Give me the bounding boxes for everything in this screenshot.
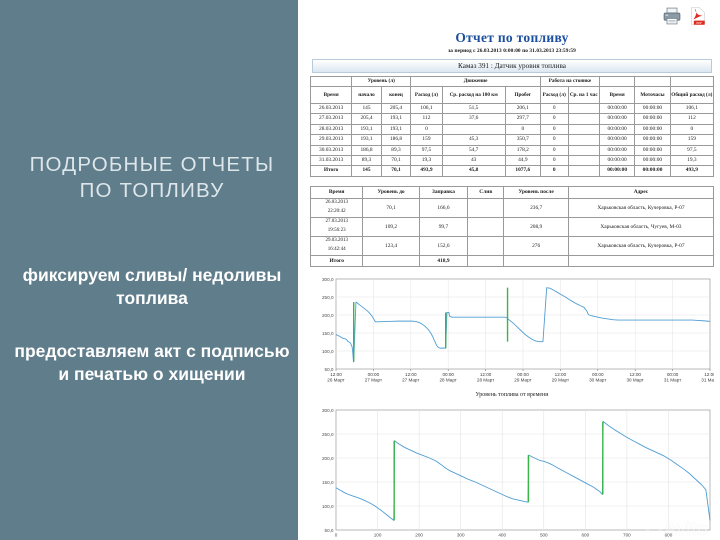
table-cell: 208,9	[504, 217, 568, 236]
table-cell: 0	[411, 124, 442, 134]
x-tick-label: 600	[581, 532, 589, 537]
table-cell: 00:00:00	[635, 166, 670, 176]
table-cell: 89,3	[352, 156, 381, 166]
group-cell-level: Уровень (л)	[352, 77, 411, 87]
x-tick-label-time: 12:00	[330, 372, 342, 377]
table-cell: 00:00:00	[635, 104, 670, 114]
y-tick-label: 100,0	[322, 504, 334, 509]
table-cell: 28.03.2013	[311, 124, 352, 134]
table-cell: 236,7	[504, 198, 568, 217]
y-tick-label: 50,0	[325, 528, 334, 533]
table-cell: 26.03.2013	[311, 104, 352, 114]
y-tick-label: 300,0	[322, 408, 334, 413]
x-tick-label-date: 26 Март	[327, 378, 345, 383]
promo-bullet-2: предоставляем акт с подписью и печатью о…	[14, 340, 290, 386]
table-cell: 44,9	[505, 156, 540, 166]
table-cell: 112	[670, 114, 713, 124]
table-cell: 106,1	[670, 104, 713, 114]
table-cell: 186,8	[381, 135, 410, 145]
table-cell: 00:00:00	[635, 124, 670, 134]
table-cell: 493,9	[670, 166, 713, 176]
table-cell	[568, 135, 599, 145]
table-cell	[468, 217, 504, 236]
group-cell	[311, 77, 352, 87]
table-cell: 97,5	[670, 145, 713, 155]
table-cell	[568, 145, 599, 155]
x-tick-label-date: 28 Март	[440, 378, 458, 383]
table-cell: 70,1	[381, 166, 410, 176]
table-cell: 106,1	[411, 104, 442, 114]
table-head: Уровень (л) Движение Работа на стоянке В…	[311, 77, 714, 104]
table-cell: 159	[411, 135, 442, 145]
table-cell: 350,7	[505, 135, 540, 145]
table-cell: 00:00:00	[635, 114, 670, 124]
column-header-row: Время начало конец Расход (л) Ср. расход…	[311, 87, 714, 104]
col-idle-time: Время	[599, 87, 634, 104]
chart-fuel-vs-distance: 50,0100,0150,0200,0250,0300,001002003004…	[310, 406, 714, 540]
table-cell: 186,8	[352, 145, 381, 155]
table-cell: 159	[670, 135, 713, 145]
table-cell: 00:00:00	[599, 114, 634, 124]
y-tick-label: 200,0	[322, 313, 334, 318]
table-cell: 276	[504, 236, 568, 255]
col-engine-hours: Моточасы	[635, 87, 670, 104]
table-cell: 00:00:00	[599, 135, 634, 145]
table-cell: 00:00:00	[635, 145, 670, 155]
col-refuel: Заправка	[419, 186, 467, 198]
chart-2-svg: 50,0100,0150,0200,0250,0300,001002003004…	[310, 406, 714, 540]
table-cell: 00:00:00	[599, 166, 634, 176]
y-tick-label: 250,0	[322, 432, 334, 437]
group-cell	[670, 77, 713, 87]
table-cell: 43	[442, 156, 505, 166]
col-time: Время	[311, 186, 363, 198]
table-cell: 206,1	[505, 104, 540, 114]
table-cell: 178,2	[505, 145, 540, 155]
table-cell: 0	[540, 104, 568, 114]
table-cell	[568, 124, 599, 134]
table-cell: 51,5	[442, 104, 505, 114]
device-bar: Камаз 391 : Датчик уровня топлива	[312, 59, 712, 73]
table-cell: 145	[352, 104, 381, 114]
table-cell	[468, 236, 504, 255]
y-tick-label: 150,0	[322, 480, 334, 485]
table-cell: 00:00:00	[599, 156, 634, 166]
table-cell: 418,9	[419, 255, 467, 266]
table-cell: 152,6	[419, 236, 467, 255]
table-cell: 54,7	[442, 145, 505, 155]
table-cell: 123,4	[363, 236, 419, 255]
col-consumption: Расход (л)	[411, 87, 442, 104]
col-avg-per-hour: Ср. на 1 час	[568, 87, 599, 104]
table-row: Итого14570,1493,945,81077,6000:00:0000:0…	[311, 166, 714, 176]
col-start: начало	[352, 87, 381, 104]
table-cell	[442, 124, 505, 134]
table-row: 26.03.201322:20:4270,1166,6236,7Харьковс…	[311, 198, 714, 217]
table-cell	[363, 255, 419, 266]
col-idle-consumption: Расход (л)	[540, 87, 568, 104]
table-cell: 109,2	[363, 217, 419, 236]
table-cell	[468, 255, 504, 266]
x-tick-label-time: 12:00	[629, 372, 641, 377]
table-body: 26.03.2013145205,4106,151,5206,1000:00:0…	[311, 104, 714, 177]
col-total-consumption: Общий расход (л)	[670, 87, 713, 104]
table-row: 29.03.201316:42:44123,4152,6276Харьковск…	[311, 236, 714, 255]
x-tick-label-date: 28 Март	[477, 378, 495, 383]
y-tick-label: 100,0	[322, 349, 334, 354]
table-cell: 27.03.2013	[311, 114, 352, 124]
col-level-before: Уровень до	[363, 186, 419, 198]
table-cell: 493,9	[411, 166, 442, 176]
table-cell: 97,5	[411, 145, 442, 155]
chart-fuel-vs-time: 50,0100,0150,0200,0250,0300,012:0026 Мар…	[310, 275, 714, 398]
table-cell: 0	[540, 114, 568, 124]
table-cell: 205,4	[352, 114, 381, 124]
table-cell	[568, 114, 599, 124]
svg-text:PDF: PDF	[696, 21, 702, 25]
table-cell: 31.03.2013	[311, 156, 352, 166]
table-cell: 297,7	[505, 114, 540, 124]
x-tick-label-time: 12:00	[704, 372, 714, 377]
table-cell: 0	[505, 124, 540, 134]
table-cell: 0	[540, 124, 568, 134]
table-cell: Харьковская область, Кучеровка, Р-07	[568, 236, 713, 255]
table-cell: 112	[411, 114, 442, 124]
refuel-header-row: Время Уровень до Заправка Слив Уровень п…	[311, 186, 714, 198]
x-tick-label-date: 29 Март	[552, 378, 570, 383]
fuel-summary-table: Уровень (л) Движение Работа на стоянке В…	[310, 76, 714, 177]
table-cell: 19,3	[670, 156, 713, 166]
x-tick-label: 700	[623, 532, 631, 537]
x-tick-label-date: 30 Март	[589, 378, 607, 383]
x-tick-label: 0	[335, 532, 338, 537]
table-cell: 0	[540, 166, 568, 176]
x-tick-label-time: 00:00	[517, 372, 529, 377]
refuel-table-head: Время Уровень до Заправка Слив Уровень п…	[311, 186, 714, 198]
table-cell: 0	[670, 124, 713, 134]
table-cell: 30.03.2013	[311, 145, 352, 155]
x-tick-label: 200	[415, 532, 423, 537]
table-row: 31.03.201389,370,119,34344,9000:00:0000:…	[311, 156, 714, 166]
table-cell: 70,1	[363, 198, 419, 217]
table-row: 29.03.2013193,1186,815945,3350,7000:00:0…	[311, 135, 714, 145]
x-tick-label-date: 27 Март	[365, 378, 383, 383]
col-level-after: Уровень после	[504, 186, 568, 198]
x-tick-label-date: 27 Март	[402, 378, 420, 383]
table-cell: 0	[540, 156, 568, 166]
table-cell: 19,3	[411, 156, 442, 166]
table-cell: 166,6	[419, 198, 467, 217]
table-cell	[568, 104, 599, 114]
table-cell: 00:00:00	[635, 156, 670, 166]
refuel-table-body: 26.03.201322:20:4270,1166,6236,7Харьковс…	[311, 198, 714, 266]
promo-panel: ПОДРОБНЫЕ ОТЧЕТЫ ПО ТОПЛИВУ фиксируем сл…	[0, 0, 304, 540]
x-tick-label-date: 31 Март	[664, 378, 682, 383]
col-avg-per-100km: Ср. расход на 100 км	[442, 87, 505, 104]
table-cell: 1077,6	[505, 166, 540, 176]
x-tick-label: 500	[540, 532, 548, 537]
y-tick-label: 300,0	[322, 277, 334, 282]
group-cell-idle: Работа на стоянке	[540, 77, 599, 87]
table-cell: 00:00:00	[635, 135, 670, 145]
table-cell: 145	[352, 166, 381, 176]
group-cell	[635, 77, 670, 87]
report-toolbar: PDF	[310, 4, 714, 28]
table-cell: 29.03.201316:42:44	[311, 236, 363, 255]
table-cell: 26.03.201322:20:42	[311, 198, 363, 217]
table-cell: 193,1	[381, 124, 410, 134]
group-header-row: Уровень (л) Движение Работа на стоянке	[311, 77, 714, 87]
table-cell: 00:00:00	[599, 145, 634, 155]
table-cell	[568, 156, 599, 166]
y-tick-label: 250,0	[322, 295, 334, 300]
table-cell: 45,3	[442, 135, 505, 145]
col-mileage: Пробег	[505, 87, 540, 104]
table-cell: 0	[540, 135, 568, 145]
x-tick-label: 100	[374, 532, 382, 537]
x-tick-label-time: 00:00	[368, 372, 380, 377]
group-cell	[599, 77, 634, 87]
table-cell: 27.03.201319:56:23	[311, 217, 363, 236]
printer-icon[interactable]	[662, 6, 682, 26]
table-cell	[568, 166, 599, 176]
report-title: Отчет по топливу	[310, 30, 714, 46]
report-panel: PDF Отчет по топливу за период с 26.03.2…	[304, 0, 720, 540]
col-end: конец	[381, 87, 410, 104]
pdf-icon[interactable]: PDF	[688, 6, 708, 26]
group-cell-movement: Движение	[411, 77, 541, 87]
table-row: 28.03.2013193,1193,100000:00:0000:00:000	[311, 124, 714, 134]
table-cell	[468, 198, 504, 217]
promo-bullet-1: фиксируем сливы/ недоливы топлива	[14, 264, 290, 310]
col-time: Время	[311, 87, 352, 104]
table-cell: 37,6	[442, 114, 505, 124]
refuel-table: Время Уровень до Заправка Слив Уровень п…	[310, 186, 714, 267]
x-tick-label-date: 30 Март	[627, 378, 645, 383]
x-tick-label-time: 12:00	[480, 372, 492, 377]
table-row: 27.03.201319:56:23109,299,7208,9Харьковс…	[311, 217, 714, 236]
table-cell: 45,8	[442, 166, 505, 176]
table-row: 30.03.2013186,889,397,554,7178,2000:00:0…	[311, 145, 714, 155]
y-tick-label: 150,0	[322, 331, 334, 336]
x-tick-label-time: 00:00	[667, 372, 679, 377]
plot-frame	[336, 410, 710, 530]
col-drain: Слив	[468, 186, 504, 198]
x-tick-label-time: 00:00	[442, 372, 454, 377]
y-tick-label: 200,0	[322, 456, 334, 461]
x-tick-label-time: 12:00	[555, 372, 567, 377]
table-cell: Итого	[311, 255, 363, 266]
x-tick-label-date: 31 Март	[701, 378, 714, 383]
table-cell: 193,1	[352, 124, 381, 134]
x-tick-label-date: 29 Март	[514, 378, 532, 383]
table-cell: 0	[540, 145, 568, 155]
col-address: Адрес	[568, 186, 713, 198]
table-cell	[568, 255, 713, 266]
table-cell: 205,4	[381, 104, 410, 114]
table-row: Итого418,9	[311, 255, 714, 266]
table-cell: 00:00:00	[599, 104, 634, 114]
x-tick-label-time: 12:00	[405, 372, 417, 377]
table-row: 27.03.2013205,4193,111237,6297,7000:00:0…	[311, 114, 714, 124]
table-cell	[504, 255, 568, 266]
x-tick-label-time: 00:00	[592, 372, 604, 377]
x-tick-label: 800	[665, 532, 673, 537]
table-cell: Итого	[311, 166, 352, 176]
promo-headline: ПОДРОБНЫЕ ОТЧЕТЫ ПО ТОПЛИВУ	[14, 152, 290, 204]
table-cell: 89,3	[381, 145, 410, 155]
report-subtitle: за период с 26.03.2013 0:00:00 по 31.03.…	[310, 48, 714, 54]
x-tick-label: 400	[498, 532, 506, 537]
x-tick-label: 300	[457, 532, 465, 537]
table-cell: 193,1	[381, 114, 410, 124]
table-cell: 99,7	[419, 217, 467, 236]
table-cell: Харьковская область, Чугуев, М-03	[568, 217, 713, 236]
table-cell: 00:00:00	[599, 124, 634, 134]
table-cell: 70,1	[381, 156, 410, 166]
table-cell: 29.03.2013	[311, 135, 352, 145]
table-cell: 193,1	[352, 135, 381, 145]
table-cell: Харьковская область, Кучеровка, Р-07	[568, 198, 713, 217]
table-row: 26.03.2013145205,4106,151,5206,1000:00:0…	[311, 104, 714, 114]
chart-1-svg: 50,0100,0150,0200,0250,0300,012:0026 Мар…	[310, 275, 714, 393]
